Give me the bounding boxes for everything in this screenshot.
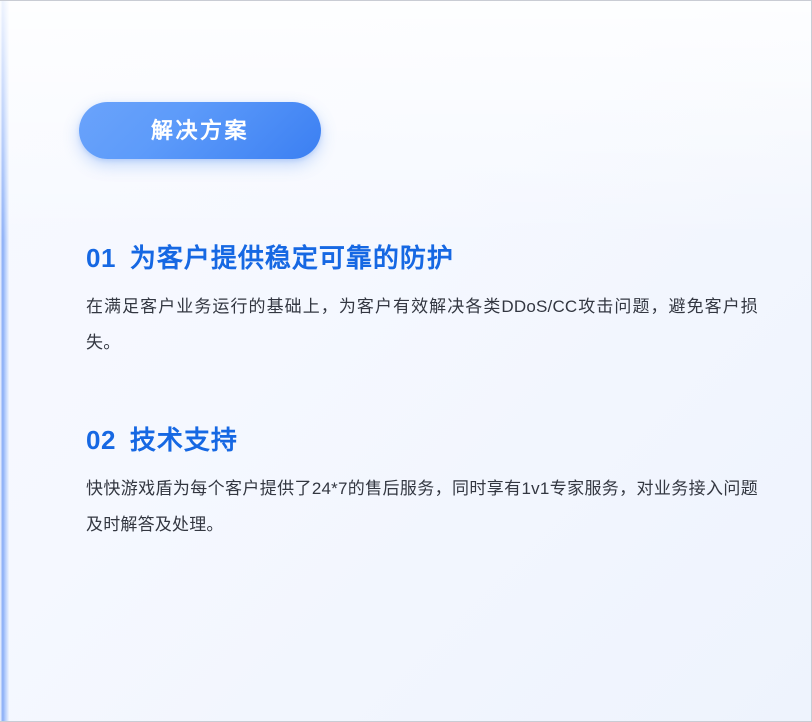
section-protection-body: 在满足客户业务运行的基础上，为客户有效解决各类DDoS/CC攻击问题，避免客户损… bbox=[86, 289, 758, 361]
solution-badge-button[interactable]: 解决方案 bbox=[79, 102, 321, 159]
section-support: 02技术支持 快快游戏盾为每个客户提供了24*7的售后服务，同时享有1v1专家服… bbox=[86, 423, 758, 543]
section-support-title: 技术支持 bbox=[130, 423, 238, 457]
section-protection: 01为客户提供稳定可靠的防护 在满足客户业务运行的基础上，为客户有效解决各类DD… bbox=[86, 241, 758, 361]
section-protection-number: 01 bbox=[86, 241, 116, 275]
left-accent-stripe bbox=[0, 1, 9, 721]
section-protection-heading: 01为客户提供稳定可靠的防护 bbox=[86, 241, 758, 275]
section-support-heading: 02技术支持 bbox=[86, 423, 758, 457]
section-protection-title: 为客户提供稳定可靠的防护 bbox=[130, 241, 454, 275]
solution-badge-container: 解决方案 bbox=[79, 102, 321, 159]
section-support-body: 快快游戏盾为每个客户提供了24*7的售后服务，同时享有1v1专家服务，对业务接入… bbox=[86, 471, 758, 543]
solution-page: 解决方案 01为客户提供稳定可靠的防护 在满足客户业务运行的基础上，为客户有效解… bbox=[0, 0, 812, 722]
section-support-number: 02 bbox=[86, 423, 116, 457]
